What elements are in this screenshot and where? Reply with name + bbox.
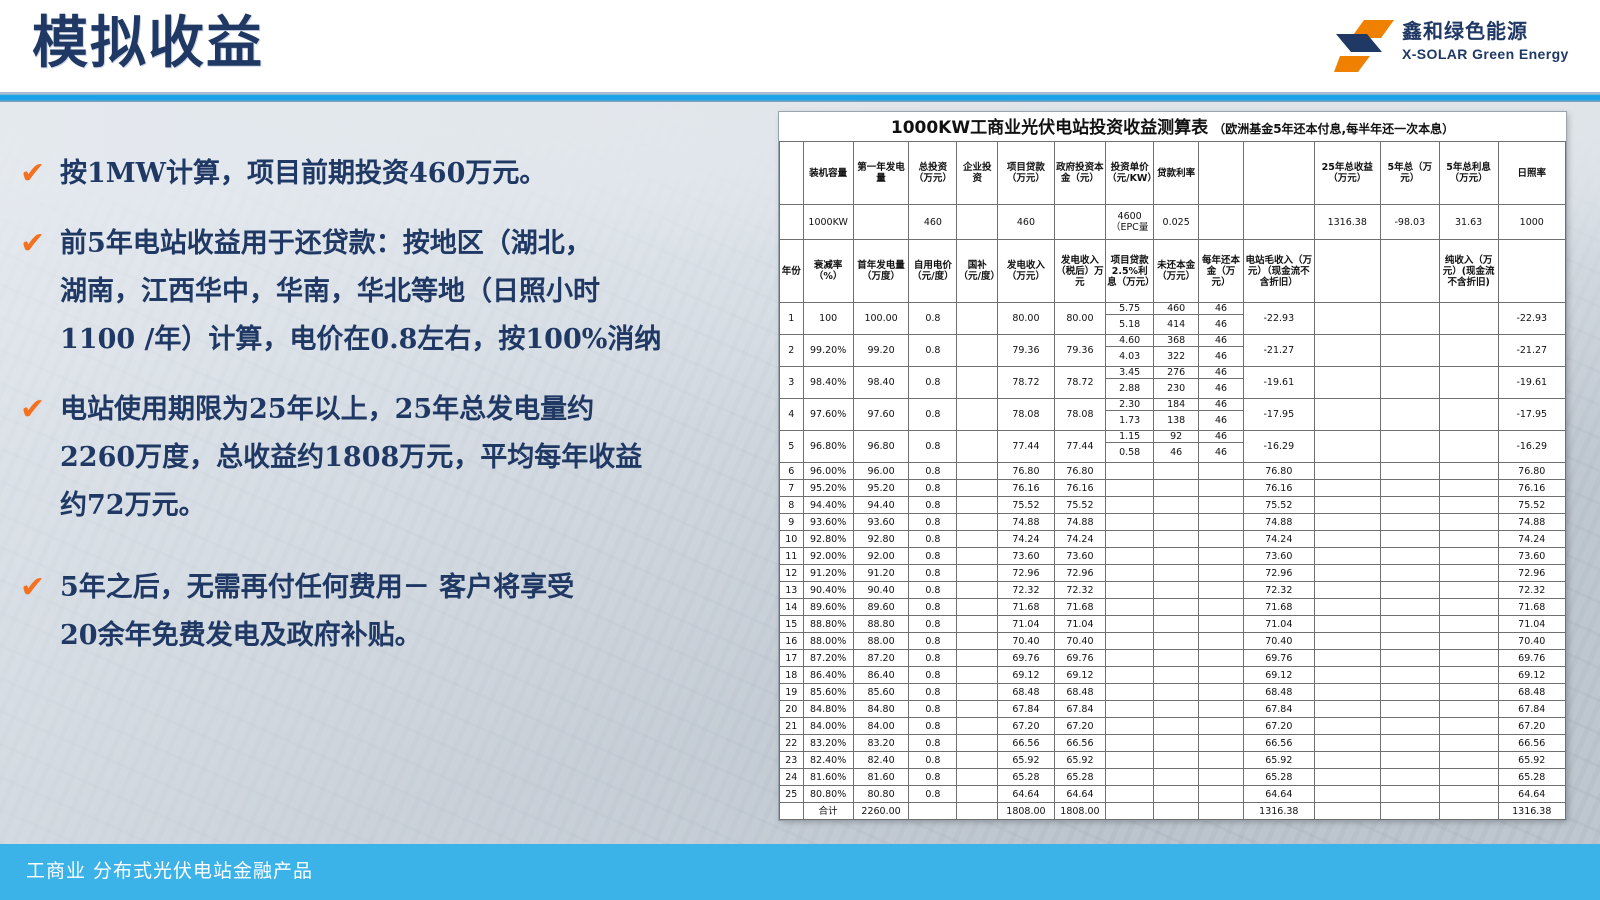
table-row: 1787.20%87.200.869.7669.7669.7669.76 bbox=[780, 650, 1566, 667]
cell-generation: 88.80 bbox=[853, 616, 909, 633]
cell-annual-repay: 46 bbox=[1199, 399, 1244, 411]
cell-subsidy bbox=[957, 786, 998, 803]
cell-net-income: 72.96 bbox=[1498, 565, 1565, 582]
bullet-line: 1100 /年）计算，电价在0.8左右，按100%消纳 bbox=[60, 316, 760, 364]
table-column-header: 电站毛收入（万元）（现金流不含折旧） bbox=[1244, 240, 1315, 303]
cell-net-income: 74.88 bbox=[1498, 514, 1565, 531]
cell-interest bbox=[1106, 480, 1154, 497]
cell-price: 0.8 bbox=[909, 431, 957, 463]
cell-blank bbox=[1380, 367, 1439, 399]
cell-income: 70.40 bbox=[998, 633, 1055, 650]
cell-price: 0.8 bbox=[909, 650, 957, 667]
cell-blank bbox=[1439, 769, 1498, 786]
cell-blank bbox=[1314, 335, 1380, 367]
cell-annual-repay bbox=[1199, 548, 1244, 565]
cell-blank bbox=[1380, 735, 1439, 752]
cell-blank bbox=[1439, 650, 1498, 667]
cell-blank bbox=[1439, 531, 1498, 548]
table-column-header: 项目贷款2.5%利息（万元） bbox=[1106, 240, 1154, 303]
slide-canvas: 模拟收益 鑫和绿色能源 X-SOLAR Green Energy ✔ 按1MW计… bbox=[0, 0, 1600, 900]
cell-generation: 96.80 bbox=[853, 431, 909, 463]
cell-generation: 92.80 bbox=[853, 531, 909, 548]
table-row: 299.20%99.200.879.3679.364.6036846-21.27… bbox=[780, 335, 1566, 347]
table-summary-cell bbox=[1054, 205, 1105, 240]
cell-net-income: 71.04 bbox=[1498, 616, 1565, 633]
cell-annual-repay bbox=[1199, 582, 1244, 599]
table-column-header: 国补（元/度） bbox=[957, 240, 998, 303]
cell-blank bbox=[1380, 650, 1439, 667]
cell-blank bbox=[1314, 303, 1380, 335]
cell-unpaid-principal: 184 bbox=[1154, 399, 1199, 411]
cell-blank bbox=[1314, 667, 1380, 684]
cell-gross-income: -16.29 bbox=[1244, 431, 1315, 463]
cell-unpaid-principal bbox=[1154, 633, 1199, 650]
cell-subsidy bbox=[957, 582, 998, 599]
table-header-cell: 日照率 bbox=[1498, 142, 1565, 205]
cell-generation: 99.20 bbox=[853, 335, 909, 367]
cell-price: 0.8 bbox=[909, 548, 957, 565]
cell-unpaid-principal bbox=[1154, 769, 1199, 786]
table-title: 1000KW工商业光伏电站投资收益测算表 （欧洲基金5年还本付息,每半年还一次本… bbox=[779, 112, 1566, 141]
table-header-cell: 5年总（万元） bbox=[1380, 142, 1439, 205]
cell-year: 18 bbox=[780, 667, 804, 684]
cell-gross-income: 70.40 bbox=[1244, 633, 1315, 650]
table-summary-cell: 31.63 bbox=[1439, 205, 1498, 240]
cell-income-after-tax: 78.08 bbox=[1054, 399, 1105, 431]
cell-subsidy bbox=[957, 633, 998, 650]
cell-interest: 0.58 bbox=[1106, 443, 1154, 463]
cell-income: 74.88 bbox=[998, 514, 1055, 531]
cell-blank bbox=[1439, 431, 1498, 463]
cell-unpaid-principal: 46 bbox=[1154, 443, 1199, 463]
cell-unpaid-principal: 460 bbox=[1154, 303, 1199, 315]
cell-price: 0.8 bbox=[909, 633, 957, 650]
cell-generation: 84.00 bbox=[853, 718, 909, 735]
cell-annual-repay bbox=[1199, 769, 1244, 786]
cell-annual-repay: 46 bbox=[1199, 443, 1244, 463]
cell-income-after-tax: 77.44 bbox=[1054, 431, 1105, 463]
cell-decay: 85.60% bbox=[803, 684, 853, 701]
cell-gross-income: 67.20 bbox=[1244, 718, 1315, 735]
bullet-line: 2260万度，总收益约1808万元，平均每年收益 bbox=[60, 434, 760, 482]
cell-unpaid-principal bbox=[1154, 752, 1199, 769]
revenue-table-card: 1000KW工商业光伏电站投资收益测算表 （欧洲基金5年还本付息,每半年还一次本… bbox=[779, 112, 1566, 820]
cell-blank bbox=[1380, 548, 1439, 565]
cell-net-income: 76.16 bbox=[1498, 480, 1565, 497]
cell-income: 78.08 bbox=[998, 399, 1055, 431]
cell-net-income: 69.12 bbox=[1498, 667, 1565, 684]
table-row: 1291.20%91.200.872.9672.9672.9672.96 bbox=[780, 565, 1566, 582]
cell-decay: 96.80% bbox=[803, 431, 853, 463]
cell-blank bbox=[1439, 599, 1498, 616]
table-header-cell: 装机容量 bbox=[803, 142, 853, 205]
cell-price: 0.8 bbox=[909, 616, 957, 633]
cell-gross-income: -22.93 bbox=[1244, 303, 1315, 335]
cell-total-gross: 1316.38 bbox=[1244, 803, 1315, 820]
cell-blank bbox=[1439, 718, 1498, 735]
cell-blank bbox=[1439, 684, 1498, 701]
cell-unpaid-principal bbox=[1154, 463, 1199, 480]
table-row: 2580.80%80.800.864.6464.6464.6464.64 bbox=[780, 786, 1566, 803]
cell-blank bbox=[1439, 582, 1498, 599]
cell-gross-income: 72.32 bbox=[1244, 582, 1315, 599]
cell-blank bbox=[1314, 431, 1380, 463]
table-row: 696.00%96.000.876.8076.8076.8076.80 bbox=[780, 463, 1566, 480]
check-icon: ✔ bbox=[20, 386, 45, 434]
table-header-cell: 25年总收益（万元） bbox=[1314, 142, 1380, 205]
cell-income: 65.28 bbox=[998, 769, 1055, 786]
cell-blank bbox=[1380, 582, 1439, 599]
table-row: 894.40%94.400.875.5275.5275.5275.52 bbox=[780, 497, 1566, 514]
table-column-header: 未还本金（万元） bbox=[1154, 240, 1199, 303]
table-column-header: 衰减率（%） bbox=[803, 240, 853, 303]
cell-blank bbox=[1380, 497, 1439, 514]
cell-decay: 87.20% bbox=[803, 650, 853, 667]
cell-income-after-tax: 64.64 bbox=[1054, 786, 1105, 803]
cell-decay: 100 bbox=[803, 303, 853, 335]
cell-income-after-tax: 76.16 bbox=[1054, 480, 1105, 497]
cell-blank bbox=[1380, 769, 1439, 786]
brand-logo: 鑫和绿色能源 X-SOLAR Green Energy bbox=[1326, 14, 1576, 78]
cell-blank bbox=[1439, 497, 1498, 514]
table-column-header bbox=[1314, 240, 1380, 303]
cell-price: 0.8 bbox=[909, 667, 957, 684]
cell-decay: 92.00% bbox=[803, 548, 853, 565]
cell-blank bbox=[1314, 786, 1380, 803]
cell-year: 16 bbox=[780, 633, 804, 650]
cell-income: 77.44 bbox=[998, 431, 1055, 463]
cell-decay: 88.00% bbox=[803, 633, 853, 650]
cell-income-after-tax: 73.60 bbox=[1054, 548, 1105, 565]
cell-blank bbox=[1380, 803, 1439, 820]
cell-annual-repay: 46 bbox=[1199, 335, 1244, 347]
cell-blank bbox=[1314, 367, 1380, 399]
cell-decay: 92.80% bbox=[803, 531, 853, 548]
table-header-cell: 5年总利息（万元） bbox=[1439, 142, 1498, 205]
cell-income-after-tax: 68.48 bbox=[1054, 684, 1105, 701]
table-header-cell: 投资单价（元/KW） bbox=[1106, 142, 1154, 205]
cell-decay: 84.80% bbox=[803, 701, 853, 718]
cell-generation: 87.20 bbox=[853, 650, 909, 667]
cell-blank bbox=[1380, 480, 1439, 497]
cell-blank bbox=[1439, 480, 1498, 497]
cell-unpaid-principal: 414 bbox=[1154, 315, 1199, 335]
table-summary-cell bbox=[957, 205, 998, 240]
cell-blank bbox=[1106, 803, 1154, 820]
cell-net-income: 70.40 bbox=[1498, 633, 1565, 650]
cell-total-income: 1808.00 bbox=[998, 803, 1055, 820]
table-row: 398.40%98.400.878.7278.723.4527646-19.61… bbox=[780, 367, 1566, 379]
cell-interest bbox=[1106, 582, 1154, 599]
cell-income-after-tax: 74.24 bbox=[1054, 531, 1105, 548]
table-row: 1092.80%92.800.874.2474.2474.2474.24 bbox=[780, 531, 1566, 548]
list-item: ✔ 5年之后，无需再付任何费用－ 客户将享受 20余年免费发电及政府补贴。 bbox=[0, 564, 760, 660]
cell-decay: 95.20% bbox=[803, 480, 853, 497]
cell-blank bbox=[1314, 480, 1380, 497]
cell-subsidy bbox=[957, 480, 998, 497]
cell-unpaid-principal bbox=[1154, 786, 1199, 803]
table-row: 1100100.000.880.0080.005.7546046-22.93-2… bbox=[780, 303, 1566, 315]
cell-income: 71.04 bbox=[998, 616, 1055, 633]
brand-name-en: X-SOLAR Green Energy bbox=[1402, 44, 1578, 64]
cell-income-after-tax: 75.52 bbox=[1054, 497, 1105, 514]
cell-income-after-tax: 79.36 bbox=[1054, 335, 1105, 367]
cell-generation: 83.20 bbox=[853, 735, 909, 752]
cell-generation: 84.80 bbox=[853, 701, 909, 718]
cell-interest: 1.15 bbox=[1106, 431, 1154, 443]
cell-annual-repay bbox=[1199, 531, 1244, 548]
cell-gross-income: 76.16 bbox=[1244, 480, 1315, 497]
cell-gross-income: 74.24 bbox=[1244, 531, 1315, 548]
cell-price: 0.8 bbox=[909, 599, 957, 616]
cell-net-income: -16.29 bbox=[1498, 431, 1565, 463]
cell-price: 0.8 bbox=[909, 582, 957, 599]
table-row: 2382.40%82.400.865.9265.9265.9265.92 bbox=[780, 752, 1566, 769]
cell-decay: 97.60% bbox=[803, 399, 853, 431]
cell-income: 78.72 bbox=[998, 367, 1055, 399]
cell-unpaid-principal bbox=[1154, 650, 1199, 667]
cell-interest bbox=[1106, 599, 1154, 616]
cell-price: 0.8 bbox=[909, 718, 957, 735]
cell-income: 67.84 bbox=[998, 701, 1055, 718]
cell-interest bbox=[1106, 735, 1154, 752]
cell-year: 19 bbox=[780, 684, 804, 701]
cell-unpaid-principal bbox=[1154, 514, 1199, 531]
cell-income: 72.32 bbox=[998, 582, 1055, 599]
cell-net-income: 67.20 bbox=[1498, 718, 1565, 735]
cell-interest: 4.60 bbox=[1106, 335, 1154, 347]
cell-decay: 81.60% bbox=[803, 769, 853, 786]
cell-interest bbox=[1106, 684, 1154, 701]
cell-subsidy bbox=[957, 701, 998, 718]
cell-income-after-tax: 69.12 bbox=[1054, 667, 1105, 684]
bullet-line: 按1MW计算，项目前期投资460万元。 bbox=[60, 150, 760, 198]
cell-blank bbox=[1439, 633, 1498, 650]
cell-blank bbox=[1439, 335, 1498, 367]
cell-gross-income: 64.64 bbox=[1244, 786, 1315, 803]
table-row: 2184.00%84.000.867.2067.2067.2067.20 bbox=[780, 718, 1566, 735]
table-row: 2481.60%81.600.865.2865.2865.2865.28 bbox=[780, 769, 1566, 786]
cell-year: 13 bbox=[780, 582, 804, 599]
cell-interest bbox=[1106, 565, 1154, 582]
cell-gross-income: 71.04 bbox=[1244, 616, 1315, 633]
cell-blank bbox=[1314, 399, 1380, 431]
cell-income: 65.92 bbox=[998, 752, 1055, 769]
bullet-list: ✔ 按1MW计算，项目前期投资460万元。 ✔ 前5年电站收益用于还贷款：按地区… bbox=[0, 102, 760, 844]
cell-generation: 85.60 bbox=[853, 684, 909, 701]
cell-net-income: -21.27 bbox=[1498, 335, 1565, 367]
cell-total-income-after-tax: 1808.00 bbox=[1054, 803, 1105, 820]
cell-blank bbox=[1380, 599, 1439, 616]
cell-net-income: 72.32 bbox=[1498, 582, 1565, 599]
cell-blank bbox=[1314, 752, 1380, 769]
table-cell bbox=[780, 205, 804, 240]
cell-blank bbox=[1314, 616, 1380, 633]
cell-blank bbox=[1380, 752, 1439, 769]
cell-price: 0.8 bbox=[909, 303, 957, 335]
cell-subsidy bbox=[957, 431, 998, 463]
cell-blank bbox=[1439, 735, 1498, 752]
cell-income-after-tax: 72.96 bbox=[1054, 565, 1105, 582]
cell-year: 15 bbox=[780, 616, 804, 633]
cell-blank bbox=[1380, 431, 1439, 463]
cell-blank bbox=[1314, 582, 1380, 599]
cell-gross-income: 75.52 bbox=[1244, 497, 1315, 514]
cell-income: 75.52 bbox=[998, 497, 1055, 514]
cell-unpaid-principal: 276 bbox=[1154, 367, 1199, 379]
table-column-header: 发电收入（税后）万元 bbox=[1054, 240, 1105, 303]
cell-blank bbox=[1380, 463, 1439, 480]
cell-blank bbox=[1314, 565, 1380, 582]
cell-blank bbox=[1439, 514, 1498, 531]
table-summary-cell bbox=[1199, 205, 1244, 240]
page-title: 模拟收益 bbox=[32, 8, 264, 80]
cell-income-after-tax: 78.72 bbox=[1054, 367, 1105, 399]
cell-net-income: 65.28 bbox=[1498, 769, 1565, 786]
cell-subsidy bbox=[957, 303, 998, 335]
cell-year: 12 bbox=[780, 565, 804, 582]
cell-gross-income: 65.28 bbox=[1244, 769, 1315, 786]
table-summary-cell: 1000KW bbox=[803, 205, 853, 240]
cell-gross-income: 76.80 bbox=[1244, 463, 1315, 480]
table-header-cell: 总投资（万元） bbox=[909, 142, 957, 205]
cell-blank bbox=[1314, 650, 1380, 667]
cell-unpaid-principal bbox=[1154, 582, 1199, 599]
cell-year: 6 bbox=[780, 463, 804, 480]
cell-total-generation: 2260.00 bbox=[853, 803, 909, 820]
cell-unpaid-principal bbox=[1154, 667, 1199, 684]
table-total-row: 合计2260.001808.001808.001316.381316.38 bbox=[780, 803, 1566, 820]
slide-footer: 工商业 分布式光伏电站金融产品 bbox=[0, 844, 1600, 900]
cell-interest bbox=[1106, 548, 1154, 565]
cell-blank bbox=[1314, 735, 1380, 752]
table-row: 1192.00%92.000.873.6073.6073.6073.60 bbox=[780, 548, 1566, 565]
cell-subsidy bbox=[957, 463, 998, 480]
cell-net-income: 74.24 bbox=[1498, 531, 1565, 548]
cell-year: 20 bbox=[780, 701, 804, 718]
cell-annual-repay bbox=[1199, 684, 1244, 701]
cell-interest: 4.03 bbox=[1106, 347, 1154, 367]
cell-price: 0.8 bbox=[909, 514, 957, 531]
bullet-line: 电站使用期限为25年以上，25年总发电量约 bbox=[60, 386, 760, 434]
cell-blank bbox=[1380, 616, 1439, 633]
cell-income: 69.76 bbox=[998, 650, 1055, 667]
cell-year: 23 bbox=[780, 752, 804, 769]
cell-generation: 95.20 bbox=[853, 480, 909, 497]
cell-net-income: 64.64 bbox=[1498, 786, 1565, 803]
cell-income-after-tax: 72.32 bbox=[1054, 582, 1105, 599]
cell-decay: 90.40% bbox=[803, 582, 853, 599]
cell-net-income: -22.93 bbox=[1498, 303, 1565, 335]
cell-unpaid-principal bbox=[1154, 718, 1199, 735]
cell-year: 25 bbox=[780, 786, 804, 803]
table-column-header: 纯收入（万元）(现金流不含折旧) bbox=[1439, 240, 1498, 303]
cell-total-net: 1316.38 bbox=[1498, 803, 1565, 820]
table-header-cell: 政府投资本金（元） bbox=[1054, 142, 1105, 205]
bullet-line: 前5年电站收益用于还贷款：按地区（湖北， bbox=[60, 220, 760, 268]
cell-price: 0.8 bbox=[909, 684, 957, 701]
cell-subsidy bbox=[957, 684, 998, 701]
table-header-cell: 贷款利率 bbox=[1154, 142, 1199, 205]
cell-gross-income: 71.68 bbox=[1244, 599, 1315, 616]
table-header-cell: 项目贷款（万元） bbox=[998, 142, 1055, 205]
cell-blank bbox=[1439, 548, 1498, 565]
table-summary-cell bbox=[853, 205, 909, 240]
cell-blank bbox=[1199, 803, 1244, 820]
table-header-cell: 企业投资 bbox=[957, 142, 998, 205]
cell-interest bbox=[1106, 514, 1154, 531]
cell-generation: 96.00 bbox=[853, 463, 909, 480]
cell-net-income: 71.68 bbox=[1498, 599, 1565, 616]
table-summary-cell: 1000 bbox=[1498, 205, 1565, 240]
cell-subsidy bbox=[957, 650, 998, 667]
cell-price: 0.8 bbox=[909, 531, 957, 548]
cell-income-after-tax: 65.92 bbox=[1054, 752, 1105, 769]
table-row: 1985.60%85.600.868.4868.4868.4868.48 bbox=[780, 684, 1566, 701]
cell-year: 7 bbox=[780, 480, 804, 497]
cell-interest bbox=[1106, 667, 1154, 684]
cell-income-after-tax: 66.56 bbox=[1054, 735, 1105, 752]
cell-price: 0.8 bbox=[909, 769, 957, 786]
cell-decay: 99.20% bbox=[803, 335, 853, 367]
cell-gross-income: 65.92 bbox=[1244, 752, 1315, 769]
cell-generation: 94.40 bbox=[853, 497, 909, 514]
cell-net-income: -19.61 bbox=[1498, 367, 1565, 399]
cell-interest bbox=[1106, 531, 1154, 548]
cell-decay: 83.20% bbox=[803, 735, 853, 752]
cell-blank bbox=[1439, 367, 1498, 399]
cell-blank bbox=[1314, 497, 1380, 514]
cell-year: 3 bbox=[780, 367, 804, 399]
list-item: ✔ 按1MW计算，项目前期投资460万元。 bbox=[0, 150, 760, 198]
table-cell bbox=[1498, 240, 1565, 303]
cell-annual-repay bbox=[1199, 667, 1244, 684]
cell-blank bbox=[1314, 769, 1380, 786]
cell-unpaid-principal: 322 bbox=[1154, 347, 1199, 367]
cell-gross-income: 73.60 bbox=[1244, 548, 1315, 565]
cell-annual-repay bbox=[1199, 599, 1244, 616]
cell-blank bbox=[1439, 616, 1498, 633]
cell-blank bbox=[1439, 752, 1498, 769]
cell-annual-repay bbox=[1199, 633, 1244, 650]
cell-blank bbox=[1314, 633, 1380, 650]
cell-blank bbox=[1380, 684, 1439, 701]
cell-net-income: 68.48 bbox=[1498, 684, 1565, 701]
cell-subsidy bbox=[957, 752, 998, 769]
table-summary-cell bbox=[1244, 205, 1315, 240]
cell-generation: 97.60 bbox=[853, 399, 909, 431]
cell-unpaid-principal: 92 bbox=[1154, 431, 1199, 443]
cell-decay: 96.00% bbox=[803, 463, 853, 480]
cell-blank bbox=[1380, 667, 1439, 684]
cell-year: 4 bbox=[780, 399, 804, 431]
cell-decay: 84.00% bbox=[803, 718, 853, 735]
cell-blank bbox=[1314, 701, 1380, 718]
cell-annual-repay bbox=[1199, 701, 1244, 718]
list-item: ✔ 电站使用期限为25年以上，25年总发电量约 2260万度，总收益约1808万… bbox=[0, 386, 760, 530]
cell-blank bbox=[1439, 803, 1498, 820]
cell-year: 11 bbox=[780, 548, 804, 565]
cell-generation: 89.60 bbox=[853, 599, 909, 616]
cell-income-after-tax: 71.68 bbox=[1054, 599, 1105, 616]
list-item: ✔ 前5年电站收益用于还贷款：按地区（湖北， 湖南，江西华中，华南，华北等地（日… bbox=[0, 220, 760, 364]
cell-blank bbox=[1439, 463, 1498, 480]
header-divider-rule bbox=[0, 92, 1600, 102]
cell-interest bbox=[1106, 786, 1154, 803]
cell-price: 0.8 bbox=[909, 735, 957, 752]
cell-year: 8 bbox=[780, 497, 804, 514]
cell-income: 79.36 bbox=[998, 335, 1055, 367]
